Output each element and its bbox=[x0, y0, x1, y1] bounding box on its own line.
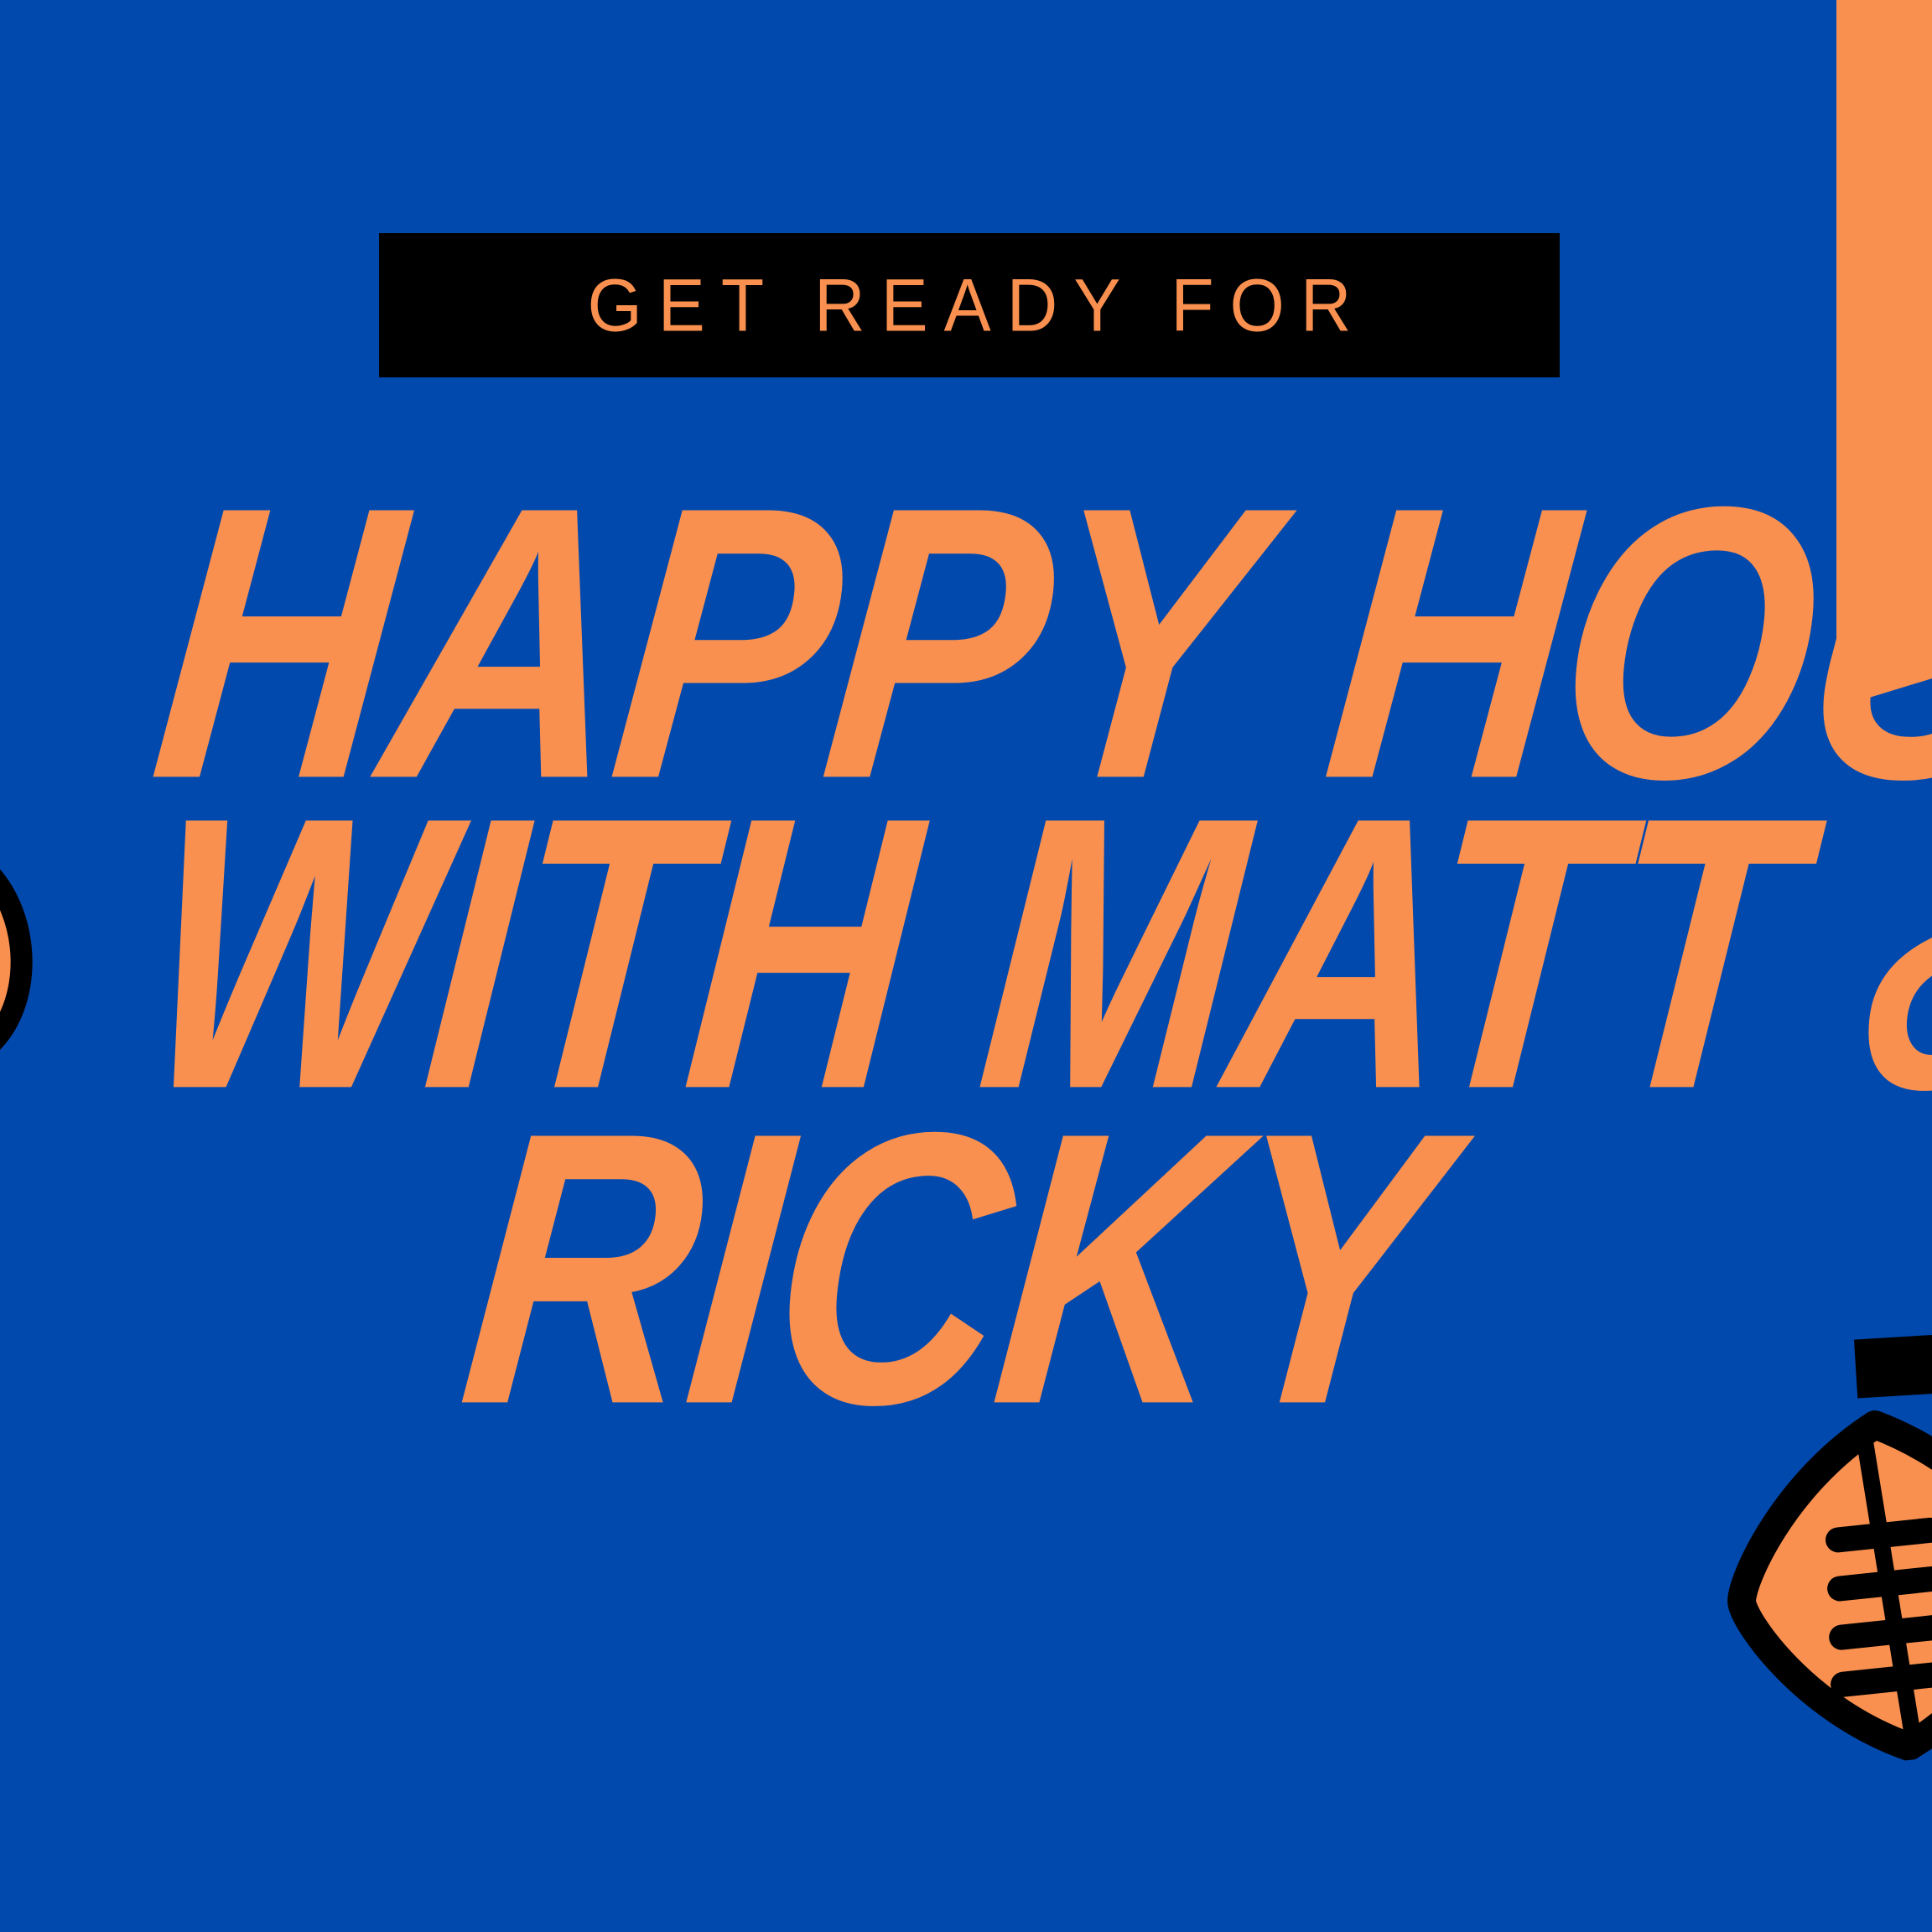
poster-canvas: GET READY FOR HAPPY HOUR WITH MATT & RIC… bbox=[0, 0, 1932, 1932]
football-lace-2 bbox=[1840, 1579, 1931, 1588]
get-ready-banner: GET READY FOR bbox=[379, 233, 1560, 377]
football-lace-3 bbox=[1841, 1628, 1932, 1637]
football-icon bbox=[1698, 1391, 1932, 1779]
headline-block: HAPPY HOUR WITH MATT & RICKY bbox=[0, 503, 1932, 1410]
black-tab-shape bbox=[1854, 1332, 1932, 1398]
football-graphic bbox=[1725, 1409, 1932, 1763]
headline-line-3: RICKY bbox=[454, 1114, 1801, 1425]
football-lace-1 bbox=[1838, 1530, 1929, 1540]
banner-label: GET READY FOR bbox=[571, 267, 1367, 342]
football-lace-4 bbox=[1843, 1675, 1932, 1684]
